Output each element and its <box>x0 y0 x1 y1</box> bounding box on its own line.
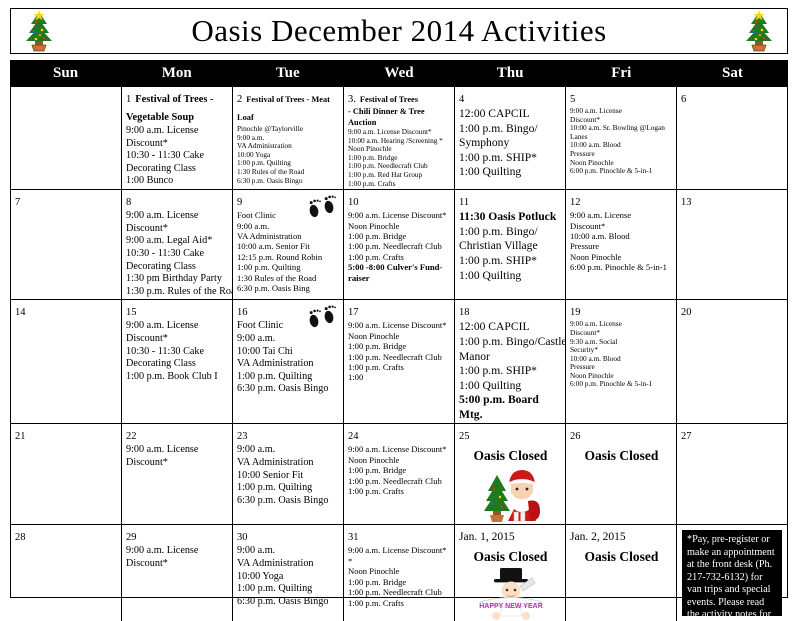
day-cell-16[interactable]: 16Foot Clinic9:00 a.m.10:00 Tai ChiVA Ad… <box>233 300 344 423</box>
day-number-row: 11 <box>459 192 562 210</box>
day-event-list: 9:00 a.m. License Discount*10:00 a.m. Sr… <box>570 107 673 176</box>
week-row: 14159:00 a.m. License Discount*10:30 - 1… <box>11 300 787 424</box>
day-number: 10 <box>348 197 359 208</box>
day-number: 4 <box>459 94 464 105</box>
day-number-row: 20 <box>681 302 784 320</box>
day-event: 6:30 p.m. Oasis Bingo <box>237 383 340 396</box>
weekday-header-wed: Wed <box>343 60 454 86</box>
day-event: Discount* <box>126 138 229 151</box>
day-number: 3. <box>348 94 356 105</box>
day-cell-14[interactable]: 14 <box>11 300 122 423</box>
day-cell-31[interactable]: 319:00 a.m. License Discount**Noon Pinoc… <box>344 525 455 621</box>
day-event: 9:00 a.m. Legal Aid* <box>126 235 229 248</box>
day-number-row: 8 <box>126 192 229 210</box>
day-event-list: 1:00 p.m. Bingo/Christian Village1:00 p.… <box>459 225 562 283</box>
day-event: 9:00 a.m. License Discount* <box>348 210 451 220</box>
day-event-list: 9:00 a.m.VA Administration10:00 Yoga1:00… <box>237 545 340 608</box>
day-number: 20 <box>681 307 692 318</box>
closed-label: Oasis Closed <box>570 448 673 464</box>
day-number-row: Jan. 2, 2015 <box>570 527 673 545</box>
week-row: 28299:00 a.m. License Discount*309:00 a.… <box>11 525 787 621</box>
day-number: 29 <box>126 532 137 543</box>
day-cell-5[interactable]: 59:00 a.m. License Discount*10:00 a.m. S… <box>566 87 677 189</box>
day-number-row: 29 <box>126 527 229 545</box>
day-event: 6:30 p.m. Oasis Bingo <box>237 495 340 508</box>
day-event: 1:00 p.m. Quilting <box>237 371 340 384</box>
day-event: 9:00 a.m. License Discount* <box>348 545 451 555</box>
day-number: Jan. 1, 2015 <box>459 531 515 543</box>
weekday-header-mon: Mon <box>121 60 232 86</box>
day-event: 1:00 p.m. Crafts <box>348 252 451 262</box>
day-cell-18[interactable]: 1812:00 CAPCIL1:00 p.m. Bingo/CastleMano… <box>455 300 566 423</box>
day-number-row: 14 <box>15 302 118 320</box>
day-event: 9:00 a.m. License <box>570 210 673 220</box>
day-event: Pressure <box>570 241 673 251</box>
day-event: 1:00 p.m. Needlecraft Club <box>348 352 451 362</box>
day-number-row: 6 <box>681 89 784 107</box>
day-event: 1:00 p.m. SHIP* <box>459 364 562 379</box>
day-event: Noon Pinochle <box>348 331 451 341</box>
day-cell-10[interactable]: 109:00 a.m. License Discount*Noon Pinoch… <box>344 190 455 299</box>
day-cell-29[interactable]: 299:00 a.m. License Discount* <box>122 525 233 621</box>
day-cell-27[interactable]: 27 <box>677 424 787 524</box>
title-banner: Oasis December 2014 Activities <box>10 8 788 54</box>
day-number: 17 <box>348 307 359 318</box>
day-event: 10:00 Senior Fit <box>237 470 340 483</box>
day-event: Decorating Class <box>126 163 229 176</box>
day-event: Discount* <box>126 223 229 236</box>
day-event: 6:30 p.m. Oasis Bingo <box>237 596 340 609</box>
day-event: 1:00 p.m. Crafts <box>348 362 451 372</box>
day-number: 13 <box>681 197 692 208</box>
day-number-row: 17 <box>348 302 451 320</box>
day-number-row: 28 <box>15 527 118 545</box>
day-cell-11[interactable]: 1111:30 Oasis Potluck1:00 p.m. Bingo/Chr… <box>455 190 566 299</box>
day-number-row: 31 <box>348 527 451 545</box>
day-event: 1:00 Bunco <box>126 175 229 188</box>
day-number-row: 26 <box>570 426 673 444</box>
day-event: 1:00 p.m. Bridge <box>348 341 451 351</box>
day-number: 16 <box>237 307 248 318</box>
closed-label: Oasis Closed <box>459 448 562 464</box>
day-cell-26[interactable]: 26Oasis Closed <box>566 424 677 524</box>
day-number: 5 <box>570 94 575 105</box>
day-event: Christian Village <box>459 239 562 254</box>
day-cell-28[interactable]: 28 <box>11 525 122 621</box>
day-cell-15[interactable]: 159:00 a.m. License Discount*10:30 - 11:… <box>122 300 233 423</box>
day-event: 9:00 a.m. <box>237 333 340 346</box>
day-number-row: 10 <box>348 192 451 210</box>
day-cell-2[interactable]: 2 Festival of Trees - Meat LoafPinochle … <box>233 87 344 189</box>
day-number-row: 18 <box>459 302 562 320</box>
day-event: 1:00 p.m. Needlecraft Club <box>348 241 451 251</box>
day-event-list: 9:00 a.m. License Discount*Noon Pinochle… <box>348 444 451 496</box>
day-event: 6:30 p.m. Oasis Bing <box>237 283 340 293</box>
day-event-list: 9:00 a.m. License Discount*10:00 a.m. He… <box>348 128 451 188</box>
day-cell-20[interactable]: 20 <box>677 300 787 423</box>
day-event: VA Administration <box>237 358 340 371</box>
day-event-list: 9:00 a.m. License Discount*10:30 - 11:30… <box>126 320 229 383</box>
day-number: 28 <box>15 532 26 543</box>
day-event: 9:00 a.m. License <box>126 545 229 558</box>
day-headline: Festival of Trees - Vegetable Soup <box>126 94 213 123</box>
day-event: 1:00 Quilting <box>459 379 562 394</box>
footprints-icon <box>305 192 339 222</box>
santa-icon <box>481 465 541 523</box>
day-event: VA Administration <box>237 231 340 241</box>
day-number: 7 <box>15 197 20 208</box>
weekday-header-tue: Tue <box>232 60 343 86</box>
day-number: 8 <box>126 197 131 208</box>
day-number: Jan. 2, 2015 <box>570 531 626 543</box>
day-event: Discount* <box>126 457 229 470</box>
day-number: 11 <box>459 197 469 208</box>
day-number-row: 30 <box>237 527 340 545</box>
day-number: 25 <box>459 431 470 442</box>
notes-box: *Pay, pre-register or make an appointmen… <box>682 530 782 616</box>
day-number: 24 <box>348 431 359 442</box>
day-cell-30[interactable]: 309:00 a.m.VA Administration10:00 Yoga1:… <box>233 525 344 621</box>
day-number-row: 21 <box>15 426 118 444</box>
day-event: 1:00 p.m. Crafts <box>348 180 451 189</box>
day-event: Manor <box>459 350 562 365</box>
day-event: 1:00 p.m. SHIP* <box>459 254 562 269</box>
day-event: Discount* <box>126 558 229 571</box>
day-event-list: 9:00 a.m. License Discount**Noon Pinochl… <box>348 545 451 607</box>
day-event: 1:00 p.m. Bingo/ <box>459 225 562 240</box>
day-event: 12:00 CAPCIL <box>459 107 562 122</box>
day-event-list: 9:00 a.m. License Discount*10:00 a.m. Bl… <box>570 210 673 272</box>
day-event: Decorating Class <box>126 261 229 274</box>
day-event: Discount* <box>126 333 229 346</box>
day-number: 12 <box>570 197 581 208</box>
day-event-list: 9:00 a.m. License Discount*Noon Pinochle… <box>348 210 451 262</box>
svg-text:HAPPY NEW YEAR: HAPPY NEW YEAR <box>479 603 543 610</box>
day-event: 1:00 p.m. Quilting <box>237 262 340 272</box>
day-number-row: 3. Festival of Trees <box>348 89 451 107</box>
day-number-row: 12 <box>570 192 673 210</box>
weekday-header-sat: Sat <box>677 60 788 86</box>
day-cell-21[interactable]: 21 <box>11 424 122 524</box>
day-event: 1:00 p.m. Bingo/Castle <box>459 335 562 350</box>
day-number: 19 <box>570 307 581 318</box>
day-cell-25[interactable]: 25Oasis Closed <box>455 424 566 524</box>
day-number-row: 4 <box>459 89 562 107</box>
day-number: 27 <box>681 431 692 442</box>
day-event-list: Pinochle @Taylorville9:00 a.m.VA Adminis… <box>237 125 340 185</box>
day-event-list: Foot Clinic9:00 a.m.VA Administration10:… <box>237 210 340 293</box>
week-row: 21229:00 a.m. License Discount*239:00 a.… <box>11 424 787 525</box>
day-event: Discount* <box>570 221 673 231</box>
day-event: 1:00 p.m. Quilting <box>237 482 340 495</box>
day-event: 9:00 a.m. License Discount* <box>348 444 451 454</box>
day-cell-1[interactable]: 1 Festival of Trees - Vegetable Soup9:00… <box>122 87 233 189</box>
day-cell-9[interactable]: 9Foot Clinic9:00 a.m.VA Administration10… <box>233 190 344 299</box>
day-event: 9:00 a.m. <box>237 444 340 457</box>
footprints-icon <box>305 302 339 332</box>
day-event-list: 9:00 a.m. License Discount*9:00 a.m. Leg… <box>126 210 229 298</box>
day-event-list: 9:00 a.m.VA Administration10:00 Senior F… <box>237 444 340 507</box>
day-number-row: 22 <box>126 426 229 444</box>
day-event: VA Administration <box>237 457 340 470</box>
day-event: Symphony <box>459 136 562 151</box>
day-cell-empty[interactable] <box>11 87 122 189</box>
closed-label: Oasis Closed <box>570 549 673 565</box>
day-number: 15 <box>126 307 137 318</box>
christmas-tree-icon-right <box>737 10 781 52</box>
day-event: 1:00 p.m. Needlecraft Club <box>348 476 451 486</box>
day-cell-24[interactable]: 249:00 a.m. License Discount*Noon Pinoch… <box>344 424 455 524</box>
day-event: 9:00 a.m. License <box>126 320 229 333</box>
day-event: * <box>348 556 451 566</box>
day-event-list: 9:00 a.m. License Discount* <box>126 444 229 469</box>
weekday-header-fri: Fri <box>566 60 677 86</box>
day-number-row: 23 <box>237 426 340 444</box>
day-number-row: 27 <box>681 426 784 444</box>
day-event: 1:00 p.m. Bridge <box>348 577 451 587</box>
day-event-list: 12:00 CAPCIL1:00 p.m. Bingo/Symphony1:00… <box>459 107 562 180</box>
day-event: 1:00 p.m. Bridge <box>348 231 451 241</box>
day-number-row: 15 <box>126 302 229 320</box>
day-number: 26 <box>570 431 581 442</box>
day-event: 1:00 p.m. Quilting <box>237 583 340 596</box>
day-event: 1:00 p.m. Bridge <box>348 465 451 475</box>
day-event: 10:00 Yoga <box>237 571 340 584</box>
day-cell-22[interactable]: 229:00 a.m. License Discount* <box>122 424 233 524</box>
day-number-row: 13 <box>681 192 784 210</box>
day-event: 1:00 p.m. Bingo/ <box>459 122 562 137</box>
day-number: 9 <box>237 197 242 208</box>
day-event-list: 12:00 CAPCIL1:00 p.m. Bingo/CastleManor1… <box>459 320 562 393</box>
day-number-row: 2 Festival of Trees - Meat Loaf <box>237 89 340 125</box>
day-number-row: 25 <box>459 426 562 444</box>
day-number-row: 24 <box>348 426 451 444</box>
day-event: 10:30 - 11:30 Cake <box>126 346 229 359</box>
day-cell-6[interactable]: 6 <box>677 87 787 189</box>
week-row: 1 Festival of Trees - Vegetable Soup9:00… <box>11 87 787 190</box>
day-event: 9:00 a.m. License <box>126 210 229 223</box>
day-event-highlight: 5:00 p.m. Board Mtg. <box>459 393 562 422</box>
day-cell-3[interactable]: 3. Festival of Trees - Chili Dinner & Tr… <box>344 87 455 189</box>
day-event-highlight: 5:00 -8:00 Culver's Fund-raiser <box>348 262 451 283</box>
day-event: 6:00 p.m. Pinochle & 5-in-1 <box>570 262 673 272</box>
day-event: Noon Pinochle <box>348 455 451 465</box>
day-event: 12:00 CAPCIL <box>459 320 562 335</box>
day-cell-8[interactable]: 89:00 a.m. License Discount*9:00 a.m. Le… <box>122 190 233 299</box>
day-number: 14 <box>15 307 26 318</box>
day-event: 1:00 p.m. Crafts <box>348 486 451 496</box>
day-cell-7[interactable]: 7 <box>11 190 122 299</box>
day-event-list: 9:00 a.m. License Discount*9:30 a.m. Soc… <box>570 320 673 389</box>
day-event: 9:00 a.m. <box>237 545 340 558</box>
day-event: Noon Pinochle <box>348 221 451 231</box>
weekday-header-sun: Sun <box>10 60 121 86</box>
calendar-grid: 1 Festival of Trees - Vegetable Soup9:00… <box>10 86 788 598</box>
page-title: Oasis December 2014 Activities <box>61 13 737 49</box>
day-event: 10:00 a.m. Blood <box>570 231 673 241</box>
calendar-page: Oasis December 2014 Activities SunMonTue… <box>0 0 800 606</box>
day-cell-empty[interactable]: *Pay, pre-register or make an appointmen… <box>677 525 787 621</box>
day-cell-13[interactable]: 13 <box>677 190 787 299</box>
day-number: 31 <box>348 532 359 543</box>
day-event-list: 9:00 a.m. License Discount* <box>126 545 229 570</box>
day-cell-17[interactable]: 179:00 a.m. License Discount*Noon Pinoch… <box>344 300 455 423</box>
closed-label: Oasis Closed <box>459 549 562 565</box>
day-number: 22 <box>126 431 137 442</box>
day-cell-Jan12015[interactable]: Jan. 1, 2015Oasis ClosedHAPPY NEW YEAR <box>455 525 566 621</box>
day-event: 1:00 p.m. Needlecraft Club <box>348 587 451 597</box>
day-event: 12:15 p.m. Round Robin <box>237 252 340 262</box>
day-event: 6:00 p.m. Pinochle & 5-in-1 <box>570 167 673 176</box>
day-event: 1:30 pm Birthday Party <box>126 273 229 286</box>
day-event: Decorating Class <box>126 358 229 371</box>
day-event: VA Administration <box>237 558 340 571</box>
day-number: 23 <box>237 431 248 442</box>
day-event: 1:30 p.m. Rules of the Road <box>126 286 229 299</box>
day-number: 30 <box>237 532 248 543</box>
day-event: 10:00 Tai Chi <box>237 346 340 359</box>
day-cell-12[interactable]: 129:00 a.m. License Discount*10:00 a.m. … <box>566 190 677 299</box>
day-cell-23[interactable]: 239:00 a.m.VA Administration10:00 Senior… <box>233 424 344 524</box>
day-event: 10:30 - 11:30 Cake <box>126 248 229 261</box>
day-event: Noon Pinochle <box>348 566 451 576</box>
day-headline: Festival of Trees <box>360 95 418 104</box>
day-event-list: 9:00 a.m. License Discount*Noon Pinochle… <box>348 320 451 382</box>
weekday-header-thu: Thu <box>455 60 566 86</box>
day-headline: Festival of Trees - Meat Loaf <box>237 95 330 122</box>
new-year-baby-icon: HAPPY NEW YEAR <box>474 566 548 620</box>
day-event: 1:00 p.m. Crafts <box>348 598 451 608</box>
day-event: 1:00 p.m. Book Club I <box>126 371 229 384</box>
day-number-row: 7 <box>15 192 118 210</box>
christmas-tree-icon-left <box>17 10 61 52</box>
day-number: 6 <box>681 94 686 105</box>
day-event: 9:00 a.m. License Discount* <box>348 320 451 330</box>
day-event: 6:00 p.m. Pinochle & 5-in-1 <box>570 380 673 389</box>
day-event: 1:30 Rules of the Road <box>237 273 340 283</box>
day-event: 10:30 - 11:30 Cake <box>126 150 229 163</box>
day-event: 1:00 <box>348 372 451 382</box>
day-cell-Jan22015[interactable]: Jan. 2, 2015Oasis Closed <box>566 525 677 621</box>
day-event: Noon Pinochle <box>570 252 673 262</box>
day-cell-19[interactable]: 199:00 a.m. License Discount*9:30 a.m. S… <box>566 300 677 423</box>
day-number-row: 19 <box>570 302 673 320</box>
day-event: 1:00 Quilting <box>459 165 562 180</box>
day-number-row: 1 Festival of Trees - Vegetable Soup <box>126 89 229 125</box>
day-event-highlight: 11:30 Oasis Potluck <box>459 210 562 225</box>
day-event: 9:00 a.m. License <box>126 125 229 138</box>
day-number: 2 <box>237 94 242 105</box>
day-number-row: 5 <box>570 89 673 107</box>
day-event: 6:30 p.m. Oasis Bingo <box>237 177 340 186</box>
day-event: 10:00 a.m. Senior Fit <box>237 241 340 251</box>
weekday-header: SunMonTueWedThuFriSat <box>10 60 788 86</box>
day-event: 9:00 a.m. License <box>126 444 229 457</box>
day-headline-2: - Chili Dinner & Tree Auction <box>348 107 451 128</box>
day-number: 21 <box>15 431 26 442</box>
day-number: 1 <box>126 94 131 105</box>
day-cell-4[interactable]: 412:00 CAPCIL1:00 p.m. Bingo/Symphony1:0… <box>455 87 566 189</box>
week-row: 789:00 a.m. License Discount*9:00 a.m. L… <box>11 190 787 300</box>
day-event: 1:00 p.m. SHIP* <box>459 151 562 166</box>
day-event: 1:00 Quilting <box>459 269 562 284</box>
day-number-row: Jan. 1, 2015 <box>459 527 562 545</box>
day-event-list: 9:00 a.m. License Discount*10:30 - 11:30… <box>126 125 229 188</box>
day-number: 18 <box>459 307 470 318</box>
